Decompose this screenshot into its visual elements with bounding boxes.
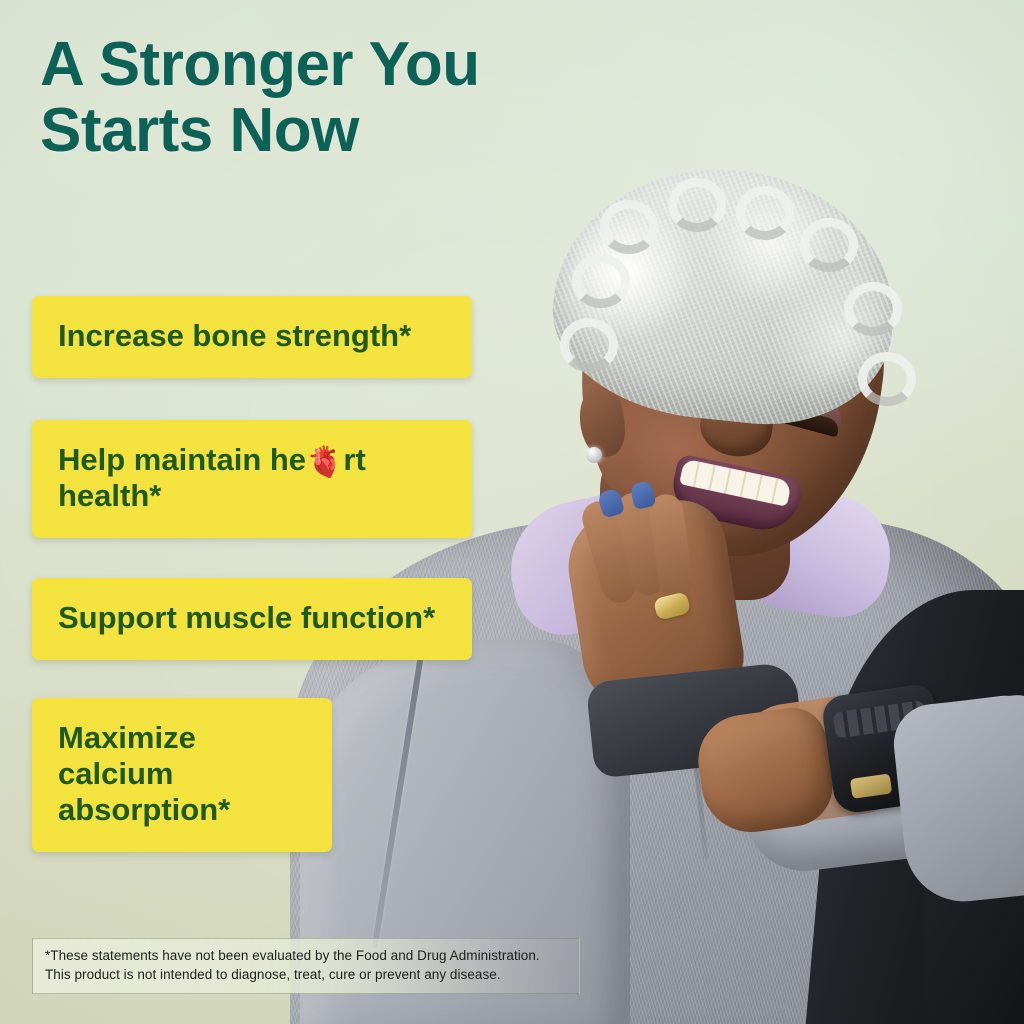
benefit-label: Maximize calcium absorption* (58, 720, 230, 827)
benefit-label: Help maintain he (58, 442, 306, 477)
hair-curl (600, 200, 658, 254)
hair-curl (668, 178, 726, 232)
benefit-list: Increase bone strength* Help maintain he… (32, 296, 652, 852)
hair-curl (844, 282, 902, 336)
hair-curl (858, 352, 916, 406)
watch-buckle (850, 773, 892, 798)
benefit-item-bone-strength: Increase bone strength* (32, 296, 472, 378)
benefit-item-calcium-absorption: Maximize calcium absorption* (32, 698, 332, 852)
benefit-item-muscle-function: Support muscle function* (32, 578, 472, 660)
page-title: A Stronger You Starts Now (40, 32, 660, 163)
hair-curl (800, 218, 858, 272)
benefit-label: Support muscle function* (58, 600, 435, 635)
benefit-label: Increase bone strength* (58, 318, 411, 353)
heart-organ-icon: 🫀 (306, 448, 343, 478)
legal-disclaimer: *These statements have not been evaluate… (32, 938, 580, 994)
promo-graphic: A Stronger You Starts Now Increase bone … (0, 0, 1024, 1024)
benefit-item-heart-health: Help maintain he🫀rt health* (32, 420, 472, 538)
hair-curl (736, 186, 794, 240)
